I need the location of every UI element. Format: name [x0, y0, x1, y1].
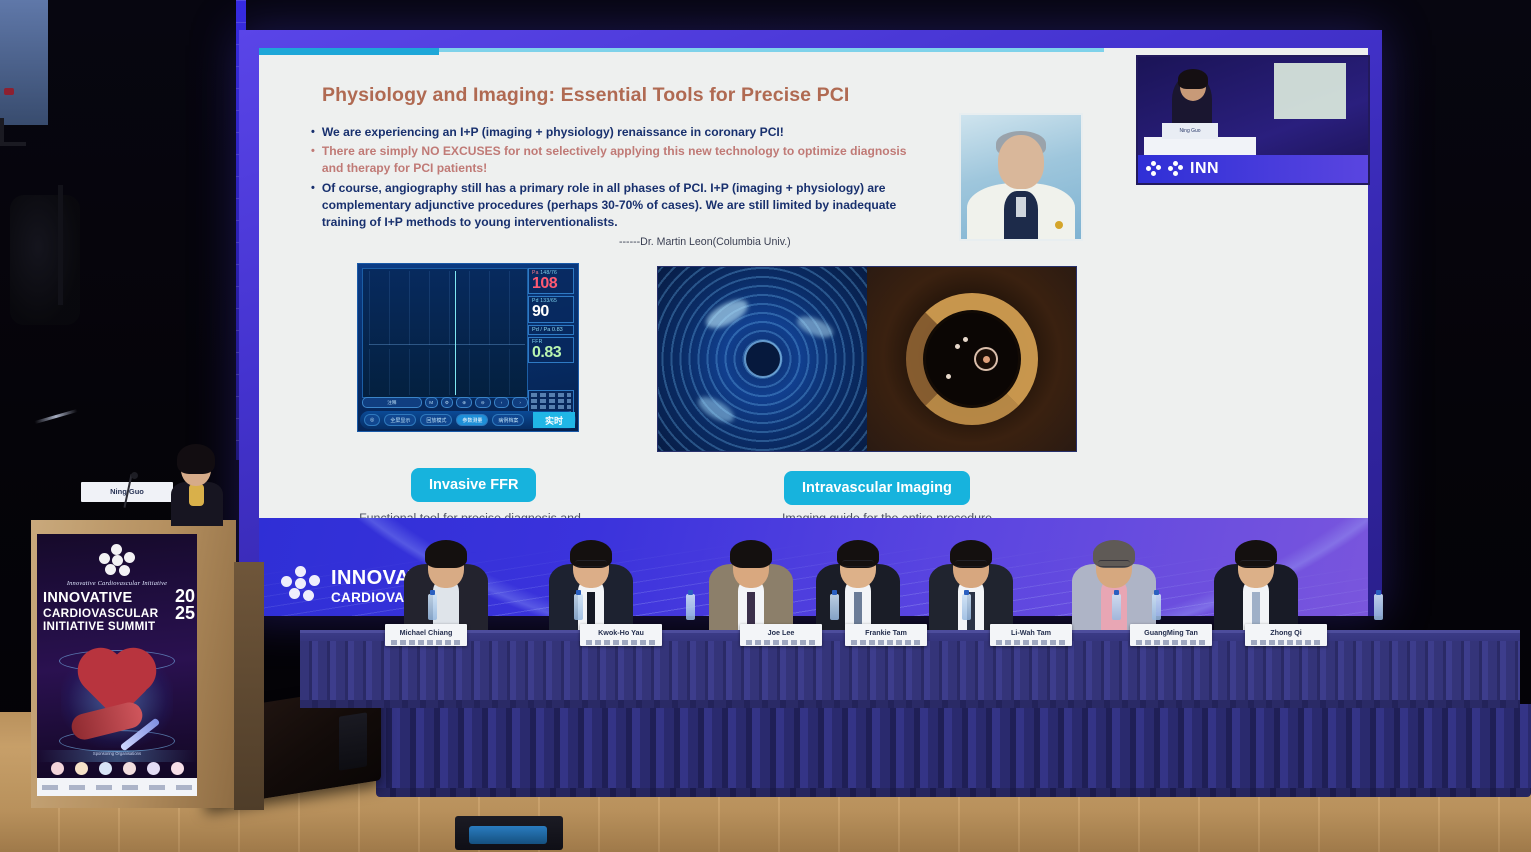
- list-item: • Of course, angiography still has a pri…: [311, 180, 931, 232]
- stage-curtain: [376, 704, 1531, 790]
- feed-lower-third: INN: [1138, 155, 1368, 183]
- ffr-m-button[interactable]: M: [425, 397, 438, 408]
- event-banner-poster: Innovative Cardiovascular Initiative INN…: [37, 534, 197, 796]
- panelist-name: Li-Wah Tam: [990, 624, 1072, 640]
- status-badge-intravascular-imaging: Intravascular Imaging: [784, 471, 970, 505]
- heart-graphic-icon: [61, 652, 173, 748]
- bullet-dot-icon: •: [311, 124, 315, 141]
- panelist-name: Joe Lee: [740, 624, 822, 640]
- banner-line-3: INITIATIVE SUMMIT: [43, 620, 191, 633]
- pdpa-ratio: Pd / Pa 0.83: [528, 325, 574, 335]
- presenting-speaker: [169, 442, 225, 524]
- stage-pole: [58, 185, 63, 305]
- tab-fullscreen[interactable]: 全屏显示: [384, 414, 416, 426]
- pd-readout: Pd 133/65 90: [528, 296, 574, 322]
- pd-value: 90: [532, 304, 570, 320]
- gear-icon[interactable]: ⚙: [441, 397, 454, 408]
- list-item: • There are simply NO EXCUSES for not se…: [311, 143, 931, 177]
- panelist: [705, 526, 797, 630]
- ffr-readout: FFR 0.83: [528, 337, 574, 363]
- bullet-text: There are simply NO EXCUSES for not sele…: [322, 143, 931, 177]
- feed-nameplate: Ning Guo: [1162, 123, 1218, 139]
- panelist: [1210, 526, 1302, 630]
- panelist: [545, 526, 637, 630]
- live-mode-button[interactable]: 实时: [533, 412, 575, 428]
- banner-subtitle: Innovative Cardiovascular Initiative: [37, 580, 197, 587]
- banner-line-1: INNOVATIVE: [43, 590, 191, 606]
- gear-cluster-icon: [1146, 161, 1162, 177]
- pa-readout: Pa 148/76 108: [528, 268, 574, 294]
- ffr-value: 0.83: [532, 345, 570, 361]
- gear-cluster-icon: [281, 566, 321, 606]
- status-badge-invasive-ffr: Invasive FFR: [411, 468, 536, 502]
- panelist-name: Kwok-Ho Yau: [580, 624, 662, 640]
- lectern: Ning Guo Innovative Cardiovascular Initi…: [31, 520, 236, 808]
- water-bottle: [686, 594, 695, 620]
- water-bottle: [1152, 594, 1161, 620]
- gear-cluster-icon: [97, 544, 137, 578]
- sponsor-logo-row: [37, 778, 197, 796]
- bullet-text: Of course, angiography still has a prima…: [322, 180, 931, 232]
- ceiling-mount-arm: [0, 118, 26, 146]
- zoom-in-icon[interactable]: ⊕: [456, 397, 472, 408]
- feed-slide-thumbnail: [1274, 63, 1346, 119]
- ivus-image: [658, 267, 867, 451]
- panelist: [400, 526, 492, 630]
- panelist: [925, 526, 1017, 630]
- speaker-portrait-photo: [959, 113, 1083, 241]
- ffr-toolbar: 注释 M ⚙ ⊕ ⊖ ‹ ›: [362, 396, 528, 409]
- side-led-screen: Ning Guo INN: [1136, 55, 1370, 185]
- bullet-text: We are experiencing an I+P (imaging + ph…: [322, 124, 784, 141]
- page-title: Physiology and Imaging: Essential Tools …: [322, 84, 849, 107]
- panelist: [812, 526, 904, 630]
- water-bottle: [962, 594, 971, 620]
- water-bottle: [574, 594, 583, 620]
- panelist-name: Zhong Qi: [1245, 624, 1327, 640]
- banner-year-bottom: 25: [175, 605, 195, 622]
- panelist-nameplate: Zhong Qi: [1245, 624, 1327, 646]
- panelist-name: GuangMing Tan: [1130, 624, 1212, 640]
- list-item: • We are experiencing an I+P (imaging + …: [311, 124, 931, 141]
- zoom-out-icon[interactable]: ⊖: [475, 397, 491, 408]
- power-icon[interactable]: ◎: [364, 414, 380, 426]
- slide-bullet-list: • We are experiencing an I+P (imaging + …: [311, 124, 931, 233]
- oct-image: [867, 267, 1076, 451]
- panelist-nameplate: Frankie Tam: [845, 624, 927, 646]
- microphone-icon: [131, 472, 138, 479]
- banner-line-2: CARDIOVASCULAR: [43, 606, 191, 620]
- tab-measure[interactable]: 参数测量: [456, 414, 488, 426]
- panelist-name: Michael Chiang: [385, 624, 467, 640]
- stage-equipment: [10, 195, 80, 325]
- sponsor-icon-row: [45, 760, 189, 776]
- tab-playback[interactable]: 回放模式: [420, 414, 452, 426]
- water-bottle: [830, 594, 839, 620]
- bullet-dot-icon: •: [311, 180, 315, 232]
- slide-attribution: ------Dr. Martin Leon(Columbia Univ.): [619, 236, 791, 248]
- intravascular-image-pair: [657, 266, 1077, 452]
- banner-title: INNOVATIVE CARDIOVASCULAR INITIATIVE SUM…: [43, 590, 191, 633]
- panelist-nameplate: Kwok-Ho Yau: [580, 624, 662, 646]
- laptop: [455, 816, 563, 850]
- banner-year: 20 25: [175, 588, 195, 621]
- ceiling-light-panel: [0, 0, 48, 125]
- camera-feed: Ning Guo INN: [1138, 57, 1368, 183]
- prev-page-icon[interactable]: ‹: [494, 397, 510, 408]
- ffr-readout-panel: Pa 148/76 108 Pd 133/65 90: [528, 268, 574, 386]
- gear-cluster-icon: [1168, 161, 1184, 177]
- panelist-name: Frankie Tam: [845, 624, 927, 640]
- water-bottle: [1112, 594, 1121, 620]
- ffr-monitor-image: Pa 148/76 108 Pd 133/65 90: [357, 263, 579, 432]
- panelist-nameplate: Joe Lee: [740, 624, 822, 646]
- conference-stage-photo: Physiology and Imaging: Essential Tools …: [0, 0, 1531, 852]
- next-page-icon[interactable]: ›: [512, 397, 528, 408]
- sponsors-label: Sponsoring Organisations: [37, 751, 197, 756]
- pa-value: 108: [532, 276, 570, 292]
- bullet-dot-icon: •: [311, 143, 315, 177]
- water-bottle: [1374, 594, 1383, 620]
- panelist-nameplate: Michael Chiang: [385, 624, 467, 646]
- feed-banner-text: INN: [1190, 160, 1219, 178]
- ffr-pressure-waveform-chart: [362, 268, 528, 398]
- water-bottle: [428, 594, 437, 620]
- panelist-nameplate: GuangMing Tan: [1130, 624, 1212, 646]
- panelist-nameplate: Li-Wah Tam: [990, 624, 1072, 646]
- tab-case-archive[interactable]: 病例档案: [492, 414, 524, 426]
- chart-cursor-line: [455, 271, 456, 395]
- equipment-indicator-light: [4, 88, 14, 95]
- ffr-annotate-button[interactable]: 注释: [362, 397, 422, 408]
